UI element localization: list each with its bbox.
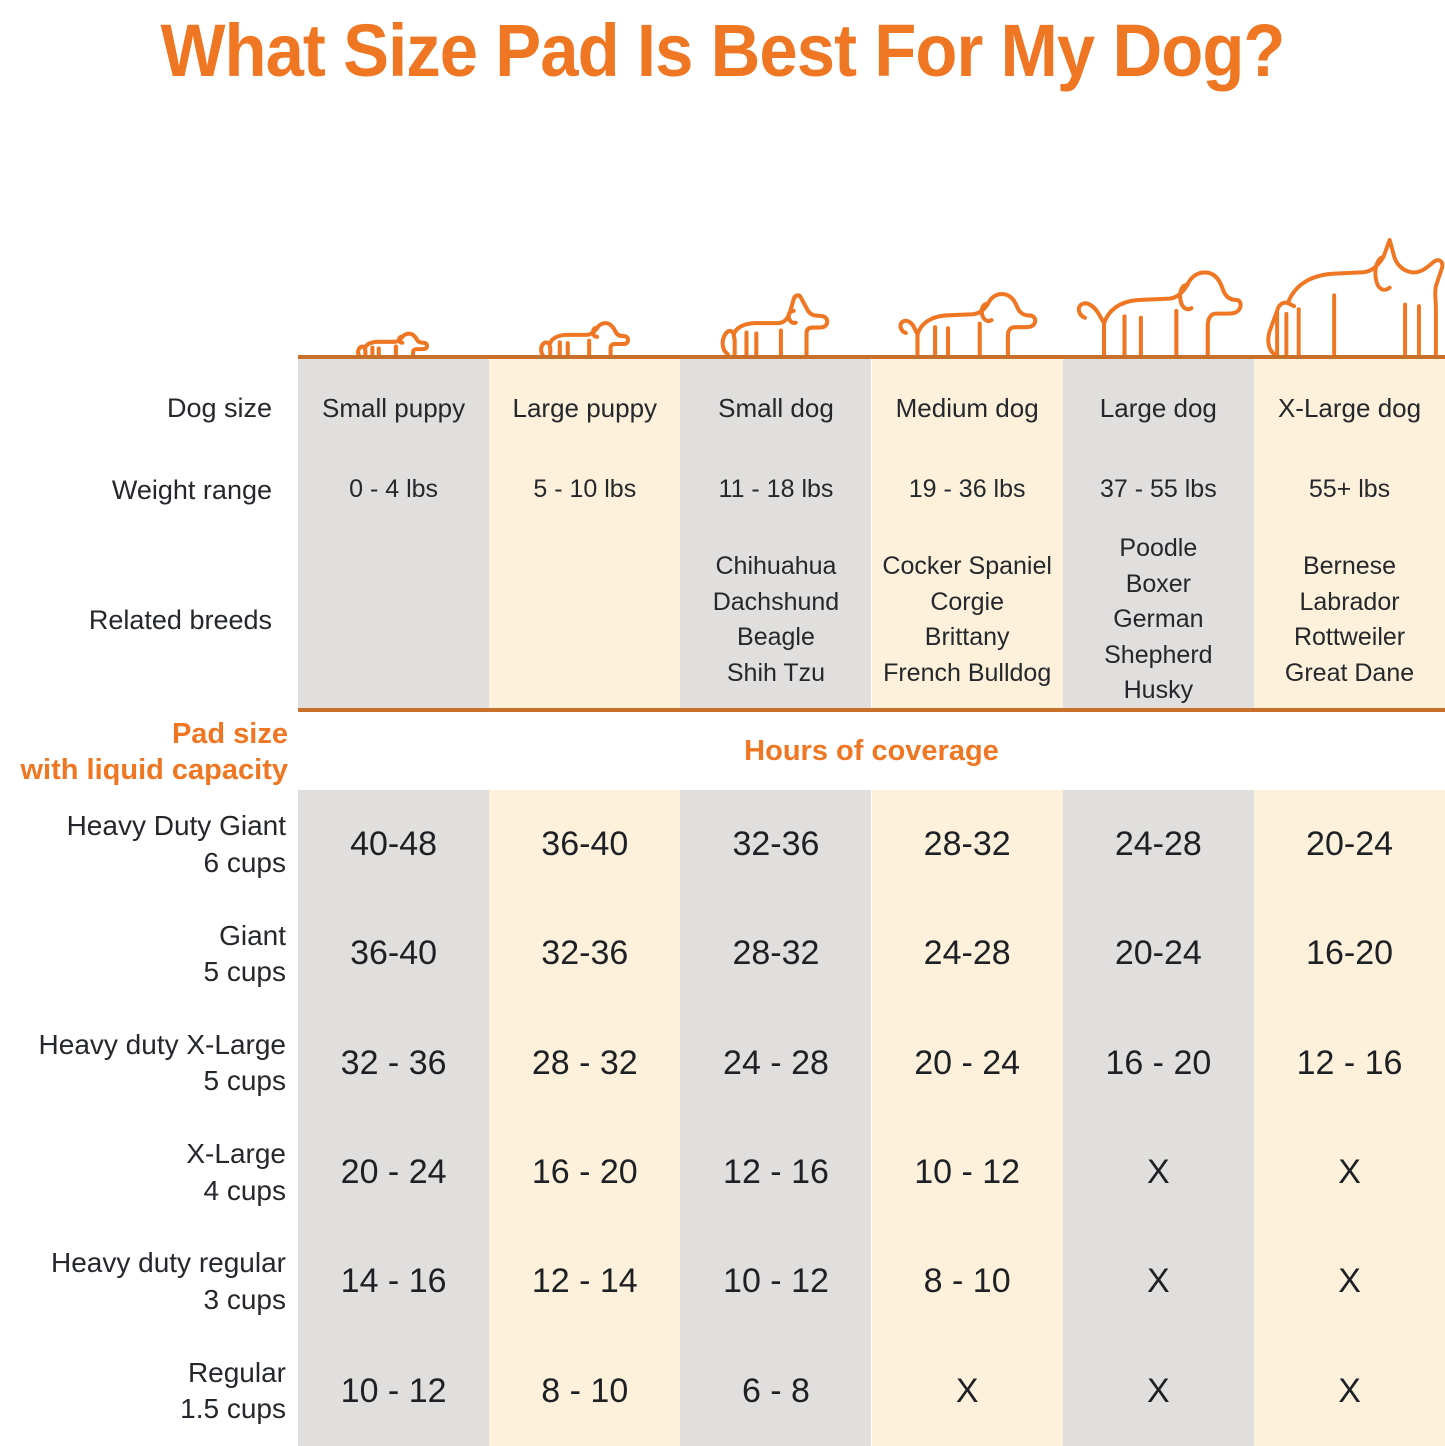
cell-dog-size-small-puppy: Small puppy bbox=[298, 373, 489, 443]
text-line: Boxer bbox=[1126, 567, 1191, 603]
cell-weight-range-xlarge-dog: 55+ lbs bbox=[1254, 455, 1445, 525]
text-line: Beagle bbox=[737, 620, 815, 656]
hours-of-coverage-header: Hours of coverage bbox=[298, 735, 1445, 768]
cell-dog-size-small-dog: Small dog bbox=[680, 373, 871, 443]
hours-of-coverage-table: Heavy Duty Giant6 cups40-4836-4032-3628-… bbox=[0, 790, 1445, 1446]
dog-silhouette-strip bbox=[298, 150, 1445, 358]
hours-cell-large-puppy: 28 - 32 bbox=[489, 1009, 680, 1118]
table-row-giant: Giant5 cups36-4032-3628-3224-2820-2416-2… bbox=[0, 899, 1445, 1008]
table-row-dog-size: Dog size Small puppyLarge puppySmall dog… bbox=[0, 373, 1445, 443]
table-row-heavy-duty-regular: Heavy duty regular3 cups14 - 1612 - 1410… bbox=[0, 1227, 1445, 1336]
hours-cell-medium-dog: 20 - 24 bbox=[872, 1009, 1063, 1118]
hours-cell-small-dog: 12 - 16 bbox=[680, 1118, 871, 1227]
pad-name: Heavy duty regular bbox=[51, 1245, 286, 1281]
pad-size-header: Pad size with liquid capacity bbox=[0, 716, 298, 789]
text-line: X-Large dog bbox=[1278, 390, 1421, 427]
hours-cell-xlarge-dog: 12 - 16 bbox=[1254, 1009, 1445, 1118]
text-line: Medium dog bbox=[896, 390, 1039, 427]
pad-capacity: 5 cups bbox=[204, 1063, 287, 1099]
cell-breeds-small-dog: ChihuahuaDachshundBeagleShih Tzu bbox=[680, 535, 871, 705]
text-line: 37 - 55 lbs bbox=[1100, 472, 1217, 508]
cell-breeds-xlarge-dog: BerneseLabradorRottweilerGreat Dane bbox=[1254, 535, 1445, 705]
text-line: Large puppy bbox=[513, 390, 658, 427]
table-row-regular: Regular1.5 cups10 - 128 - 106 - 8XXX bbox=[0, 1337, 1445, 1446]
hours-cell-large-dog: X bbox=[1063, 1227, 1254, 1336]
pad-capacity: 6 cups bbox=[204, 845, 287, 881]
hours-cell-large-puppy: 12 - 14 bbox=[489, 1227, 680, 1336]
text-line: Great Dane bbox=[1285, 656, 1414, 692]
cell-weight-range-small-dog: 11 - 18 lbs bbox=[680, 455, 871, 525]
text-line: 55+ lbs bbox=[1309, 472, 1390, 508]
cell-weight-range-medium-dog: 19 - 36 lbs bbox=[872, 455, 1063, 525]
dog-silhouette-small-puppy bbox=[298, 150, 489, 358]
table-row-heavy-duty-giant: Heavy Duty Giant6 cups40-4836-4032-3628-… bbox=[0, 790, 1445, 899]
text-line: 19 - 36 lbs bbox=[909, 472, 1026, 508]
hours-cell-small-puppy: 14 - 16 bbox=[298, 1227, 489, 1336]
pad-size-label: Heavy duty regular3 cups bbox=[0, 1227, 298, 1336]
hours-cell-large-dog: 20-24 bbox=[1063, 899, 1254, 1008]
hours-cell-large-puppy: 16 - 20 bbox=[489, 1118, 680, 1227]
hours-cell-xlarge-dog: 20-24 bbox=[1254, 790, 1445, 899]
text-line: Small dog bbox=[718, 390, 834, 427]
text-line: Chihuahua bbox=[716, 549, 837, 585]
cell-breeds-large-puppy bbox=[489, 535, 680, 705]
hours-cell-xlarge-dog: 16-20 bbox=[1254, 899, 1445, 1008]
pad-size-label: Heavy Duty Giant6 cups bbox=[0, 790, 298, 899]
text-line: Brittany bbox=[925, 620, 1010, 656]
table-row-weight-range: Weight range 0 - 4 lbs5 - 10 lbs11 - 18 … bbox=[0, 455, 1445, 525]
table-row-related-breeds: Related breeds ChihuahuaDachshundBeagleS… bbox=[0, 535, 1445, 705]
pad-name: Regular bbox=[188, 1355, 286, 1391]
pad-size-label: Regular1.5 cups bbox=[0, 1337, 298, 1446]
cell-weight-range-small-puppy: 0 - 4 lbs bbox=[298, 455, 489, 525]
row-label-dog-size: Dog size bbox=[0, 373, 298, 443]
hours-cell-small-puppy: 32 - 36 bbox=[298, 1009, 489, 1118]
text-line: French Bulldog bbox=[883, 656, 1051, 692]
row-label-weight-range: Weight range bbox=[0, 455, 298, 525]
cell-breeds-medium-dog: Cocker SpanielCorgieBrittanyFrench Bulld… bbox=[872, 535, 1063, 705]
text-line: Cocker Spaniel bbox=[882, 549, 1052, 585]
cell-dog-size-medium-dog: Medium dog bbox=[872, 373, 1063, 443]
pad-name: Heavy Duty Giant bbox=[67, 808, 286, 844]
text-line: Small puppy bbox=[322, 390, 465, 427]
hours-cell-small-puppy: 10 - 12 bbox=[298, 1337, 489, 1446]
text-line: Dachshund bbox=[713, 585, 839, 621]
hours-cell-small-dog: 24 - 28 bbox=[680, 1009, 871, 1118]
hours-cell-xlarge-dog: X bbox=[1254, 1227, 1445, 1336]
hours-cell-small-dog: 6 - 8 bbox=[680, 1337, 871, 1446]
text-line: Shepherd bbox=[1104, 638, 1212, 674]
cell-dog-size-large-dog: Large dog bbox=[1063, 373, 1254, 443]
cell-weight-range-large-puppy: 5 - 10 lbs bbox=[489, 455, 680, 525]
hours-cell-xlarge-dog: X bbox=[1254, 1118, 1445, 1227]
text-line: Shih Tzu bbox=[727, 656, 825, 692]
dog-silhouette-large-dog bbox=[1063, 150, 1254, 358]
text-line: 11 - 18 lbs bbox=[719, 472, 834, 508]
row-label-related-breeds: Related breeds bbox=[0, 535, 298, 705]
cell-weight-range-large-dog: 37 - 55 lbs bbox=[1063, 455, 1254, 525]
text-line: Labrador bbox=[1299, 585, 1399, 621]
cell-breeds-large-dog: PoodleBoxerGermanShepherdHusky bbox=[1063, 535, 1254, 705]
dog-silhouette-large-puppy bbox=[489, 150, 680, 358]
section-divider bbox=[298, 708, 1445, 712]
hours-cell-small-puppy: 36-40 bbox=[298, 899, 489, 1008]
pad-size-header-line1: Pad size bbox=[0, 716, 288, 752]
hours-cell-large-puppy: 8 - 10 bbox=[489, 1337, 680, 1446]
table-row-heavy-duty-x-large: Heavy duty X-Large5 cups32 - 3628 - 3224… bbox=[0, 1009, 1445, 1118]
pad-capacity: 4 cups bbox=[204, 1173, 287, 1209]
hours-cell-small-dog: 28-32 bbox=[680, 899, 871, 1008]
text-line: Poodle bbox=[1119, 531, 1197, 567]
pad-capacity: 5 cups bbox=[204, 954, 287, 990]
cell-dog-size-large-puppy: Large puppy bbox=[489, 373, 680, 443]
hours-cell-small-dog: 32-36 bbox=[680, 790, 871, 899]
text-line: 5 - 10 lbs bbox=[533, 472, 636, 508]
text-line: Rottweiler bbox=[1294, 620, 1405, 656]
text-line: Husky bbox=[1124, 673, 1193, 709]
text-line: Corgie bbox=[930, 585, 1004, 621]
cell-dog-size-xlarge-dog: X-Large dog bbox=[1254, 373, 1445, 443]
text-line: Large dog bbox=[1100, 390, 1217, 427]
dog-silhouette-xlarge-dog bbox=[1254, 150, 1445, 358]
hours-cell-large-puppy: 32-36 bbox=[489, 899, 680, 1008]
hours-cell-small-dog: 10 - 12 bbox=[680, 1227, 871, 1336]
hours-cell-medium-dog: 8 - 10 bbox=[872, 1227, 1063, 1336]
table-row-x-large: X-Large4 cups20 - 2416 - 2012 - 1610 - 1… bbox=[0, 1118, 1445, 1227]
hours-cell-large-dog: X bbox=[1063, 1118, 1254, 1227]
hours-cell-large-dog: 16 - 20 bbox=[1063, 1009, 1254, 1118]
pad-capacity: 1.5 cups bbox=[180, 1391, 286, 1427]
pad-size-label: Giant5 cups bbox=[0, 899, 298, 1008]
pad-name: Heavy duty X-Large bbox=[39, 1027, 286, 1063]
pad-name: Giant bbox=[219, 918, 286, 954]
pad-size-label: X-Large4 cups bbox=[0, 1118, 298, 1227]
hours-cell-medium-dog: 28-32 bbox=[872, 790, 1063, 899]
page-title: What Size Pad Is Best For My Dog? bbox=[51, 0, 1395, 100]
dog-info-table: Dog size Small puppyLarge puppySmall dog… bbox=[0, 359, 1445, 709]
pad-size-header-line2: with liquid capacity bbox=[0, 752, 288, 788]
hours-cell-large-dog: 24-28 bbox=[1063, 790, 1254, 899]
text-line: German bbox=[1113, 602, 1203, 638]
pad-capacity: 3 cups bbox=[204, 1282, 287, 1318]
hours-cell-large-puppy: 36-40 bbox=[489, 790, 680, 899]
pad-size-label: Heavy duty X-Large5 cups bbox=[0, 1009, 298, 1118]
dog-silhouette-medium-dog bbox=[872, 150, 1063, 358]
text-line: 0 - 4 lbs bbox=[349, 472, 438, 508]
hours-cell-small-puppy: 40-48 bbox=[298, 790, 489, 899]
hours-cell-medium-dog: 24-28 bbox=[872, 899, 1063, 1008]
cell-breeds-small-puppy bbox=[298, 535, 489, 705]
hours-cell-large-dog: X bbox=[1063, 1337, 1254, 1446]
hours-cell-medium-dog: X bbox=[872, 1337, 1063, 1446]
hours-cell-small-puppy: 20 - 24 bbox=[298, 1118, 489, 1227]
pad-name: X-Large bbox=[186, 1136, 286, 1172]
hours-cell-xlarge-dog: X bbox=[1254, 1337, 1445, 1446]
hours-cell-medium-dog: 10 - 12 bbox=[872, 1118, 1063, 1227]
dog-silhouette-small-dog bbox=[680, 150, 871, 358]
text-line: Bernese bbox=[1303, 549, 1396, 585]
